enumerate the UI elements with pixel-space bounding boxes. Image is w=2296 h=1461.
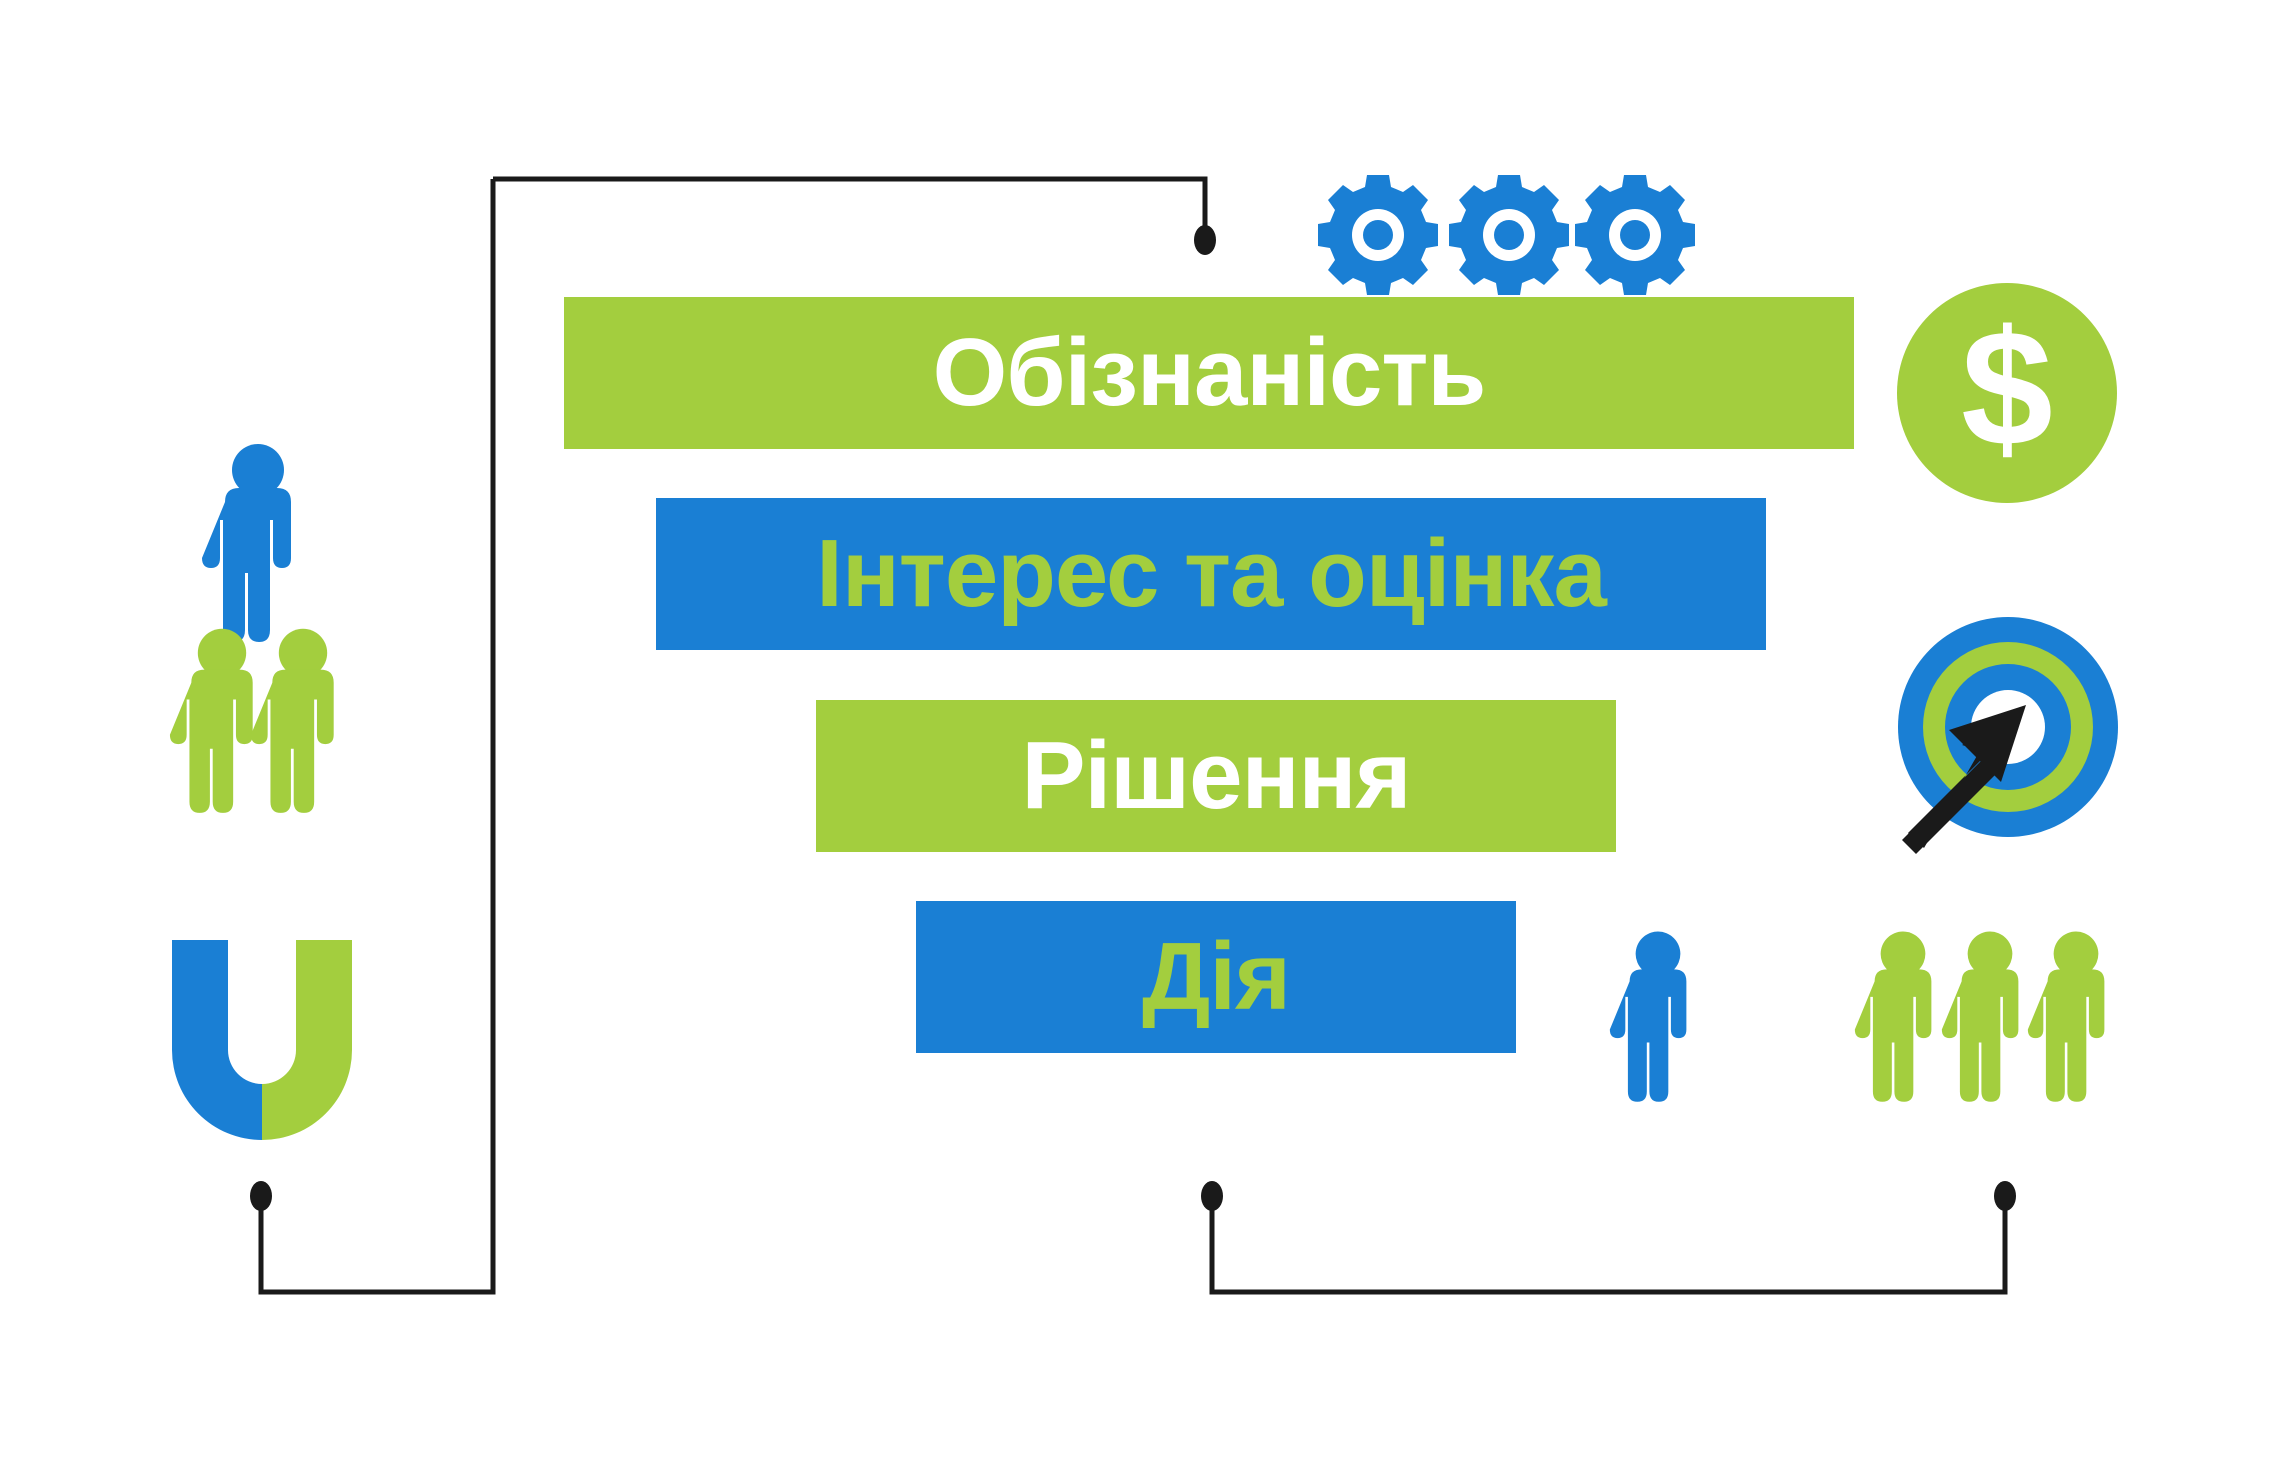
person-icon [1855, 932, 1932, 1102]
gears-icon [1318, 175, 1695, 295]
gear-icon [1318, 175, 1438, 295]
person-icon [2028, 932, 2105, 1102]
funnel-stage-interest-evaluation[interactable]: Інтерес та оцінка [656, 498, 1766, 650]
gear-icon [1575, 175, 1695, 295]
funnel-stage-label: Дія [1142, 929, 1290, 1025]
funnel-stage-decision[interactable]: Рішення [816, 700, 1616, 852]
person-icon [170, 629, 253, 813]
gear-icon [1449, 175, 1569, 295]
person-icon [1610, 932, 1687, 1102]
funnel-stage-label: Обізнаність [933, 325, 1486, 421]
person-icon [1942, 932, 2019, 1102]
connector-endpoint-dot [1194, 225, 1216, 255]
person-icon [202, 444, 291, 642]
connector-endpoint-dot [250, 1181, 272, 1211]
target-with-arrow-icon [1898, 617, 2118, 854]
person-icon [251, 629, 334, 813]
funnel-stage-action[interactable]: Дія [916, 901, 1516, 1053]
dollar-circle-icon: $ [1897, 283, 2117, 503]
audience-group-bottom [1610, 932, 2105, 1102]
funnel-stage-label: Інтерес та оцінка [816, 526, 1606, 622]
infographic-canvas: $ [0, 0, 2296, 1461]
audience-group-left [170, 444, 334, 813]
funnel-stage-awareness[interactable]: Обізнаність [564, 297, 1854, 449]
connector-bottom-right-audience [1201, 1181, 2016, 1292]
dollar-glyph: $ [1961, 296, 2053, 480]
connector-top-to-funnel [493, 179, 1216, 255]
connector-endpoint-dot [1201, 1181, 1223, 1211]
connector-endpoint-dot [1994, 1181, 2016, 1211]
magnet-icon [172, 940, 352, 1140]
funnel-stage-label: Рішення [1021, 728, 1410, 824]
